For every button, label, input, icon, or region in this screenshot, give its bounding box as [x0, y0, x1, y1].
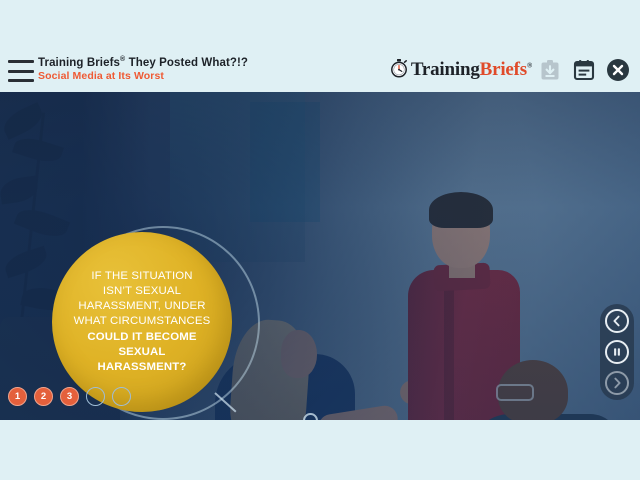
player-header: Training Briefs® They Posted What?!? Soc…: [0, 0, 640, 92]
pager-dot-3[interactable]: 3: [60, 387, 79, 406]
brand-logo: TrainingBriefs®: [389, 57, 532, 83]
callout-line: IF THE SITUATION: [74, 269, 211, 284]
person-seated-glasses: [496, 384, 534, 401]
next-button[interactable]: [605, 371, 629, 395]
course-title-main: Training Briefs: [38, 57, 120, 69]
brand-word-training: Training: [411, 59, 480, 80]
hamburger-menu-icon[interactable]: [8, 60, 34, 82]
callout-bubble: IF THE SITUATIONISN’T SEXUALHARASSMENT, …: [52, 232, 232, 412]
callout-line: COULD IT BECOME: [74, 330, 211, 345]
pager-dot-1[interactable]: 1: [8, 387, 27, 406]
hamburger-bar: [8, 60, 34, 63]
person-woman-face: [281, 330, 317, 378]
download-icon[interactable]: [538, 58, 562, 82]
previous-button[interactable]: [605, 309, 629, 333]
brand-word-briefs: Briefs: [480, 59, 527, 80]
callout-text: IF THE SITUATIONISN’T SEXUALHARASSMENT, …: [64, 269, 221, 374]
pager-dot-2[interactable]: 2: [34, 387, 53, 406]
course-subtitle: Social Media at Its Worst: [38, 71, 248, 83]
pager-dot-5[interactable]: [112, 387, 131, 406]
pause-button[interactable]: [605, 340, 629, 364]
pager-dot-4[interactable]: [86, 387, 105, 406]
slide-pager: 123: [8, 387, 131, 406]
close-icon[interactable]: [606, 58, 630, 82]
brand-wordmark: TrainingBriefs®: [411, 59, 532, 81]
scene-wall-panel-accent: [250, 102, 320, 222]
person-man-hair: [429, 192, 493, 228]
callout-line: WHAT CIRCUMSTANCES: [74, 314, 211, 329]
hamburger-bar: [8, 70, 34, 73]
playback-controls: [600, 304, 634, 400]
stopwatch-icon: [389, 58, 409, 83]
callout-line: HARASSMENT, UNDER: [74, 299, 211, 314]
callout-line: HARASSMENT?: [74, 360, 211, 375]
course-title-block: Training Briefs® They Posted What?!? Soc…: [38, 56, 248, 82]
brand-registered-mark: ®: [527, 62, 532, 70]
callout-line: ISN’T SEXUAL: [74, 284, 211, 299]
course-player: Training Briefs® They Posted What?!? Soc…: [0, 0, 640, 480]
callout-line: SEXUAL: [74, 345, 211, 360]
video-stage[interactable]: IF THE SITUATIONISN’T SEXUALHARASSMENT, …: [0, 92, 640, 420]
page-title: Training Briefs® They Posted What?!?: [38, 56, 248, 70]
course-title-rest: They Posted What?!?: [125, 57, 248, 69]
notes-icon[interactable]: [572, 58, 596, 82]
hamburger-bar: [8, 79, 34, 82]
